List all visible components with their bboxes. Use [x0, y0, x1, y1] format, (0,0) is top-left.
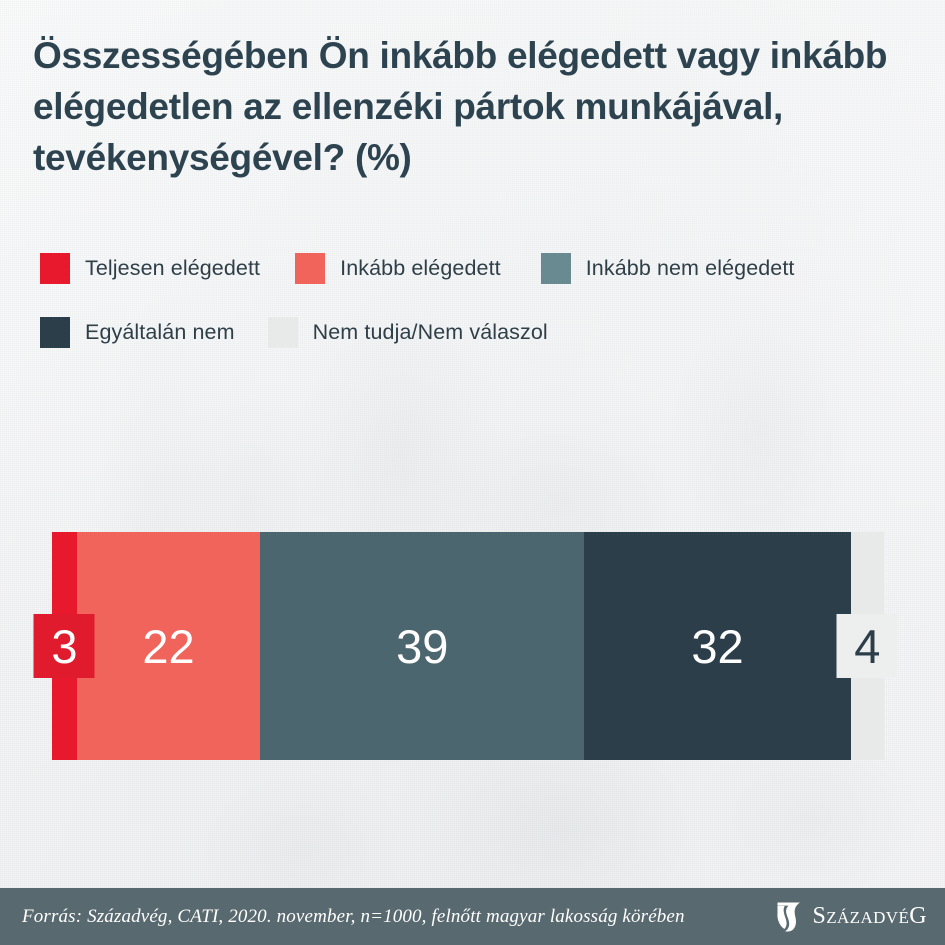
legend-row-1: Teljesen elégedett Inkább elégedett Inká…	[40, 247, 920, 289]
legend-item-inkabb-nem-elegedett: Inkább nem elégedett	[541, 253, 795, 284]
header: Összességében Ön inkább elégedett vagy i…	[33, 30, 913, 183]
brand-logo-g: G	[909, 903, 927, 929]
bar-segment-1: 22	[77, 532, 260, 760]
legend-row-2: Egyáltalán nem Nem tudja/Nem válaszol	[40, 311, 920, 353]
legend-label-inkabb-nem-elegedett: Inkább nem elégedett	[586, 256, 795, 281]
bar-segment-2: 39	[260, 532, 584, 760]
szazadveg-leaf-icon	[776, 901, 803, 933]
bar-segment-value-1: 22	[142, 623, 194, 670]
chart-legend: Teljesen elégedett Inkább elégedett Inká…	[40, 247, 920, 375]
legend-item-inkabb-elegedett: Inkább elégedett	[295, 253, 501, 284]
infographic-canvas: Összességében Ön inkább elégedett vagy i…	[0, 0, 945, 945]
bar-segment-0: 3	[52, 532, 77, 760]
legend-label-inkabb-elegedett: Inkább elégedett	[340, 256, 501, 281]
bar-segment-4: 4	[851, 532, 884, 760]
legend-item-nem-tudja: Nem tudja/Nem válaszol	[268, 317, 548, 348]
legend-swatch-nem-tudja	[268, 317, 298, 348]
stacked-bar-chart: 32239324	[52, 532, 884, 760]
bar-segment-callout-4: 4	[837, 614, 898, 678]
source-note: Forrás: Századvég, CATI, 2020. november,…	[22, 906, 685, 928]
bar-segment-value-2: 39	[396, 623, 448, 670]
legend-label-egyaltalan-nem: Egyáltalán nem	[85, 320, 235, 345]
bar-segment-value-0: 3	[51, 623, 77, 670]
legend-swatch-egyaltalan-nem	[40, 317, 70, 348]
bar-segment-3: 32	[584, 532, 850, 760]
legend-label-nem-tudja: Nem tudja/Nem válaszol	[313, 320, 548, 345]
brand-logo-text: SZÁZADVÉG	[812, 903, 927, 930]
legend-swatch-teljesen-elegedett	[40, 253, 70, 284]
bar-segment-value-3: 32	[691, 623, 743, 670]
legend-item-teljesen-elegedett: Teljesen elégedett	[40, 253, 260, 284]
legend-item-egyaltalan-nem: Egyáltalán nem	[40, 317, 235, 348]
legend-swatch-inkabb-elegedett	[295, 253, 325, 284]
legend-swatch-inkabb-nem-elegedett	[541, 253, 571, 284]
page-title: Összességében Ön inkább elégedett vagy i…	[33, 30, 913, 183]
brand-logo: SZÁZADVÉG	[776, 901, 927, 933]
bar-segment-callout-0: 3	[34, 614, 95, 678]
footer-bar: Forrás: Századvég, CATI, 2020. november,…	[0, 888, 945, 945]
bar-segment-value-4: 4	[854, 623, 880, 670]
legend-label-teljesen-elegedett: Teljesen elégedett	[85, 256, 260, 281]
brand-logo-s: S	[812, 903, 826, 929]
brand-logo-mid: ZÁZADVÉ	[826, 908, 909, 927]
